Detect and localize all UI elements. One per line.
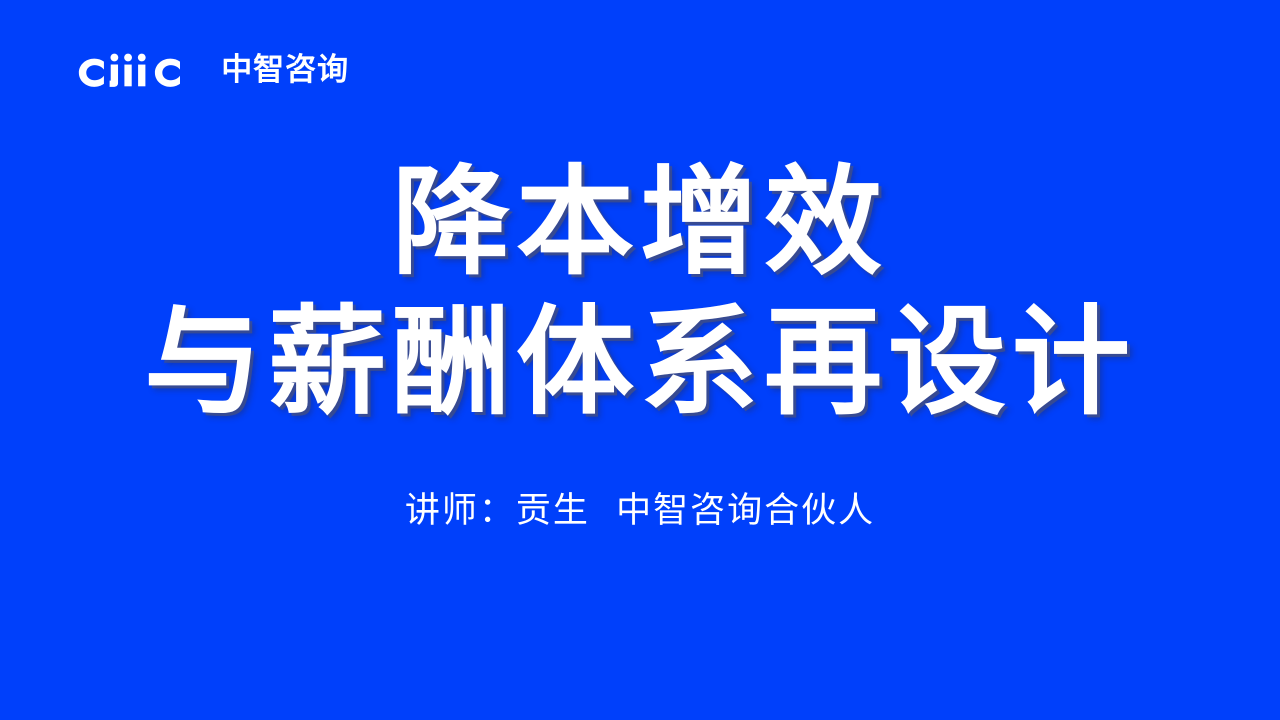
logo-wordmark: 中智咨询 <box>221 53 349 87</box>
ciic-logo-icon <box>78 53 207 87</box>
slide-canvas: 中智咨询 降本增效 与薪酬体系再设计 讲师：贡生 中智咨询合伙人 <box>0 0 1280 720</box>
page-title: 降本增效 与薪酬体系再设计 <box>0 152 1280 432</box>
brand-logo: 中智咨询 <box>78 50 349 90</box>
title-line-2: 与薪酬体系再设计 <box>0 292 1280 432</box>
title-line-1: 降本增效 <box>0 152 1280 292</box>
presenter-subtitle: 讲师：贡生 中智咨询合伙人 <box>0 487 1280 535</box>
